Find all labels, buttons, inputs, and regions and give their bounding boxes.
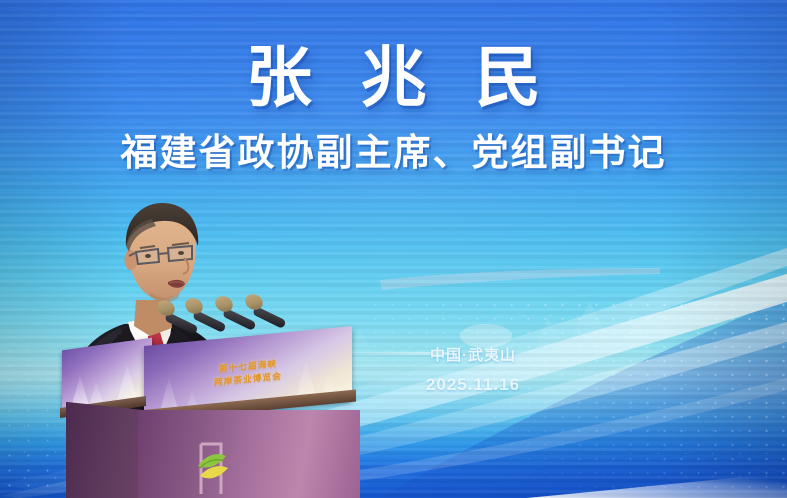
speaker-name-text: 张 兆 民 [0,42,787,116]
event-meta-block: 中国·武夷山 2025.11.16 [388,344,558,395]
event-location-text: 中国·武夷山 [388,344,558,365]
screenshot-stage: 张 兆 民 福建省政协副主席、党组副书记 中国·武夷山 2025.11.16 [0,0,787,498]
podium-banner-text: 第十七届海峡 两岸茶业博览会 [144,350,352,396]
tea-leaf-logo-icon [188,436,234,498]
speaker-role-text: 福建省政协副主席、党组副书记 [0,132,787,176]
podium-banner-line-2: 两岸茶业博览会 [214,371,282,388]
podium: 第十七届海峡 两岸茶业博览会 [60,330,360,498]
podium-body [138,410,360,498]
event-date-text: 2025.11.16 [388,375,558,395]
led-title-block: 张 兆 民 福建省政协副主席、党组副书记 [0,42,787,176]
podium-body-left [66,402,144,498]
